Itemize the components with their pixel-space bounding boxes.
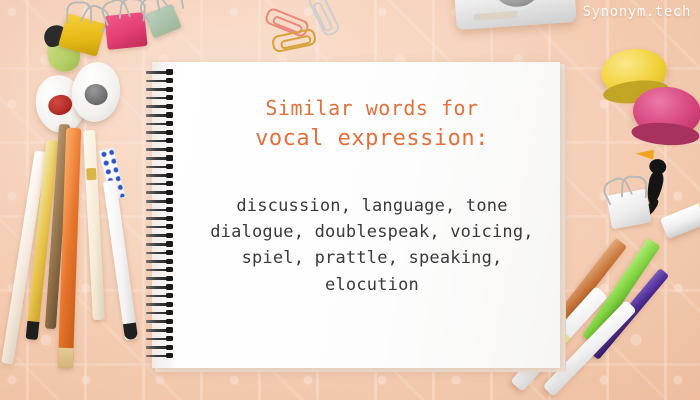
site-watermark: Synonym.tech xyxy=(583,4,691,20)
spiral-coil xyxy=(146,122,173,127)
spiral-coil xyxy=(146,276,173,281)
screenshot-root: Similar words for vocal expression: disc… xyxy=(0,0,700,400)
spiral-coil xyxy=(146,208,173,213)
spiral-coil xyxy=(146,294,173,299)
camera-lens xyxy=(486,0,548,12)
toucan-figurine xyxy=(648,170,662,204)
spiral-coil xyxy=(146,268,173,273)
spiral-coil xyxy=(146,70,173,75)
spiral-coil xyxy=(146,225,173,230)
spiral-coil xyxy=(146,173,173,178)
spiral-coil-knob xyxy=(166,138,173,143)
pencil-orange-wood-tip xyxy=(58,348,74,369)
eraser-gray-center xyxy=(83,83,109,107)
notebook-page: Similar words for vocal expression: disc… xyxy=(152,62,560,368)
spiral-coil xyxy=(146,87,173,92)
spiral-coil-knob xyxy=(166,259,173,264)
spiral-coil-knob xyxy=(166,198,173,203)
spiral-coil-knob xyxy=(166,336,173,341)
spiral-coil-knob xyxy=(166,207,173,212)
synonym-line: discussion, language, tone xyxy=(184,193,560,219)
spiral-coil xyxy=(146,130,173,135)
spiral-coil xyxy=(146,354,173,359)
spiral-coil-knob xyxy=(166,319,173,324)
spiral-coil xyxy=(146,259,173,264)
spiral-coil-knob xyxy=(166,233,173,238)
spiral-coil-knob xyxy=(166,353,173,358)
spiral-coil-knob xyxy=(166,302,173,307)
spiral-coil-knob xyxy=(166,147,173,152)
spiral-coil xyxy=(146,147,173,152)
camera xyxy=(455,0,575,26)
spiral-coil xyxy=(146,190,173,195)
spiral-coil-knob xyxy=(166,276,173,281)
spiral-coil xyxy=(146,182,173,187)
spiral-coil-knob xyxy=(166,293,173,298)
spiral-coil-knob xyxy=(166,164,173,169)
spiral-coil xyxy=(146,242,173,247)
spiral-coil xyxy=(146,104,173,109)
heading-query-term: vocal expression: xyxy=(184,125,560,153)
spiral-coil xyxy=(146,251,173,256)
spiral-coil-knob xyxy=(166,241,173,246)
spiral-coil-knob xyxy=(166,78,173,83)
heading-similar-words-for: Similar words for xyxy=(184,96,560,121)
synonym-word-list: discussion, language, tone dialogue, dou… xyxy=(184,193,560,298)
spiral-coil-knob xyxy=(166,121,173,126)
spiral-coil xyxy=(146,345,173,350)
spiral-coil-knob xyxy=(166,267,173,272)
spiral-coil xyxy=(146,319,173,324)
spiral-coil xyxy=(146,302,173,307)
spiral-coil xyxy=(146,199,173,204)
pen-white-tip xyxy=(123,322,138,340)
spiral-coil xyxy=(146,328,173,333)
spiral-coil xyxy=(146,113,173,118)
spiral-coil-knob xyxy=(166,130,173,135)
spiral-notebook: Similar words for vocal expression: disc… xyxy=(152,62,566,372)
spiral-coil xyxy=(146,139,173,144)
spiral-coil-knob xyxy=(166,284,173,289)
spiral-coil xyxy=(146,216,173,221)
spiral-coil-knob xyxy=(166,112,173,117)
binder-clip-pink xyxy=(104,12,147,50)
synonym-line: spiel, prattle, speaking, xyxy=(184,245,560,271)
spiral-coil-knob xyxy=(166,310,173,315)
synonym-line: dialogue, doublespeak, voicing, xyxy=(184,219,560,245)
spiral-coil-knob xyxy=(166,87,173,92)
spiral-coil-knob xyxy=(166,216,173,221)
spiral-coil-knob xyxy=(166,190,173,195)
spiral-coil-knob xyxy=(166,104,173,109)
spiral-coil-knob xyxy=(166,181,173,186)
spiral-coil-knob xyxy=(166,95,173,100)
spiral-coil-knob xyxy=(166,250,173,255)
spiral-coil xyxy=(146,233,173,238)
eraser-red-center xyxy=(46,93,74,118)
spiral-coil xyxy=(146,96,173,101)
spiral-coil-knob xyxy=(166,69,173,74)
pencil-yellow-tip xyxy=(26,321,40,340)
spiral-coil-knob xyxy=(166,345,173,350)
camera-grip-strip xyxy=(474,11,518,21)
spiral-coil-knob xyxy=(166,224,173,229)
page-content: Similar words for vocal expression: disc… xyxy=(184,62,560,368)
spiral-coil xyxy=(146,311,173,316)
toucan-beak xyxy=(635,149,654,160)
spiral-coil xyxy=(146,156,173,161)
spiral-coil xyxy=(146,285,173,290)
pen-cream-clip xyxy=(86,168,97,181)
spiral-coil-knob xyxy=(166,173,173,178)
camera-body xyxy=(453,0,576,30)
binder-clip-white xyxy=(606,189,651,229)
spiral-coil xyxy=(146,337,173,342)
synonym-line: elocution xyxy=(184,272,560,298)
spiral-binding xyxy=(146,70,176,366)
spiral-coil xyxy=(146,165,173,170)
spiral-coil xyxy=(146,79,173,84)
spiral-coil-knob xyxy=(166,155,173,160)
spiral-coil-knob xyxy=(166,327,173,332)
